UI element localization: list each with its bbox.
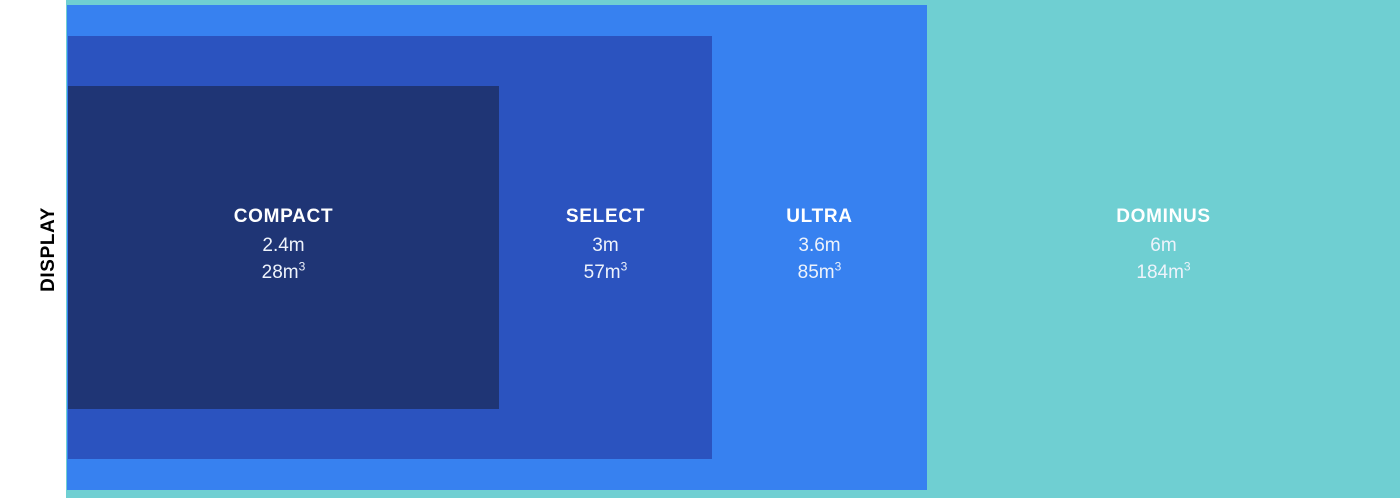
tier-rect-compact[interactable] <box>68 86 499 409</box>
axis-label-text: DISPLAY <box>39 207 58 292</box>
axis-label-display: DISPLAY <box>0 0 66 498</box>
display-size-comparison-chart: DISPLAY COMPACT 2.4m 28m3 SELECT 3m 57m3… <box>0 0 1400 498</box>
